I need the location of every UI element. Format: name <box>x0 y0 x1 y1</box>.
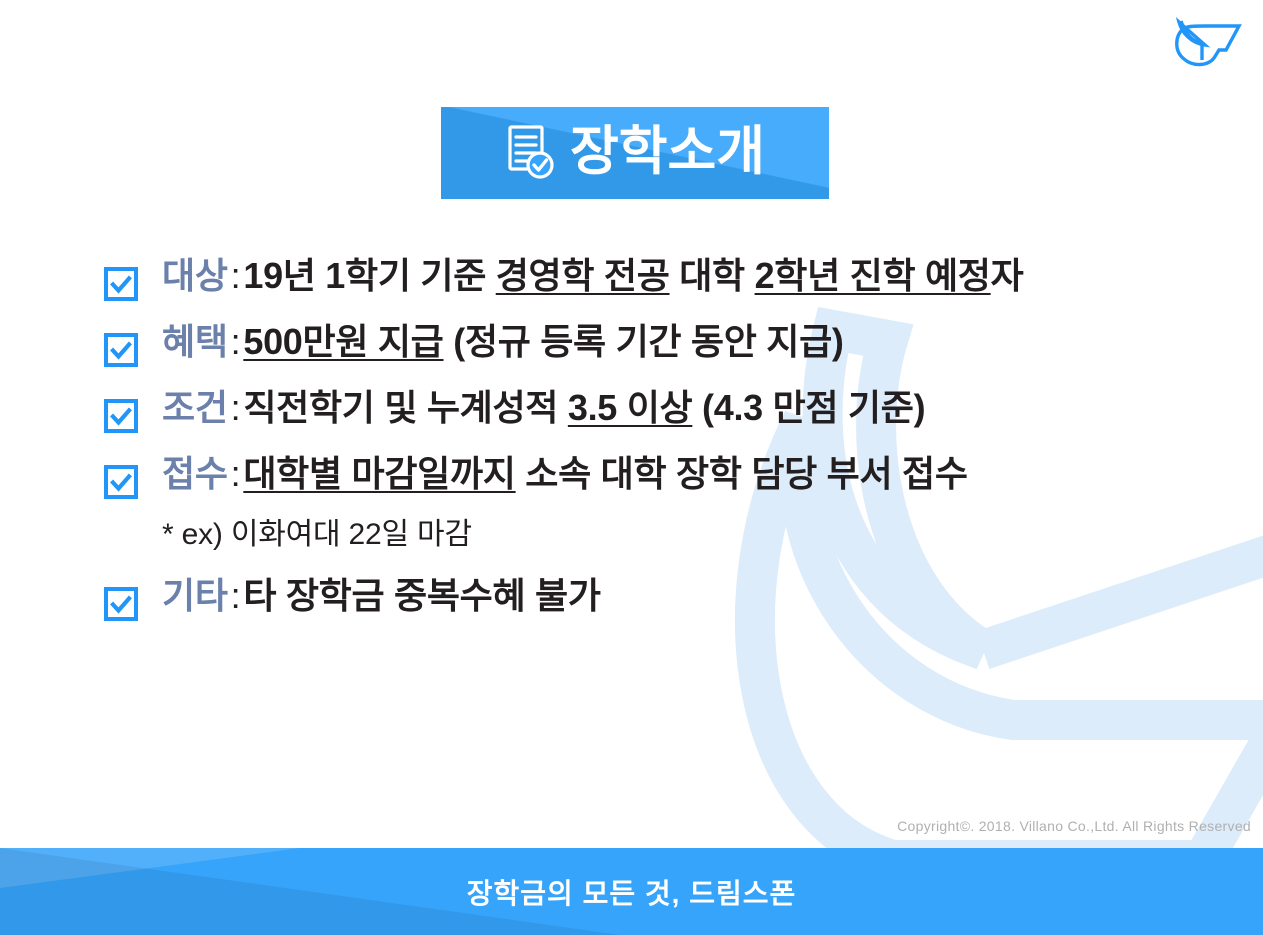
bullet-list: 대상:19년 1학기 기준 경영학 전공 대학 2학년 진학 예정자 혜택:50… <box>0 243 1263 629</box>
footer-tagline: 장학금의 모든 것, 드림스폰 <box>467 872 796 912</box>
bullet-seg: 자 <box>991 255 1024 296</box>
bullet-label: 대상 <box>162 255 228 296</box>
bullet-row-application: 접수:대학별 마감일까지 소속 대학 장학 담당 부서 접수 <box>0 441 1263 507</box>
bullet-text-condition: 조건:직전학기 및 누계성적 3.5 이상 (4.3 만점 기준) <box>162 375 925 441</box>
bullet-seg: 소속 대학 장학 담당 부서 접수 <box>516 453 968 494</box>
bullet-colon: : <box>228 321 244 362</box>
bullet-seg: 대학 <box>670 255 755 296</box>
bullet-row-condition: 조건:직전학기 및 누계성적 3.5 이상 (4.3 만점 기준) <box>0 375 1263 441</box>
bullet-label: 조건 <box>162 387 228 428</box>
bullet-label: 접수 <box>162 453 228 494</box>
bullet-text-benefit: 혜택:500만원 지급 (정규 등록 기간 동안 지급) <box>162 309 844 375</box>
bullet-text-other: 기타:타 장학금 중복수혜 불가 <box>162 563 601 629</box>
bullet-label: 혜택 <box>162 321 228 362</box>
checkbox-checked-icon <box>104 465 138 499</box>
bullet-colon: : <box>228 387 244 428</box>
bullet-colon: : <box>228 255 244 296</box>
bullet-seg-underlined: 대학별 마감일까지 <box>243 453 515 494</box>
bullet-row-target: 대상:19년 1학기 기준 경영학 전공 대학 2학년 진학 예정자 <box>0 243 1263 309</box>
bullet-note-application: * ex) 이화여대 22일 마감 <box>0 507 1263 563</box>
bullet-seg: (정규 등록 기간 동안 지급) <box>444 321 844 362</box>
bullet-seg-underlined: 500만원 지급 <box>243 321 443 362</box>
villano-bird-logo-icon <box>1171 12 1249 74</box>
bullet-seg-underlined: 3.5 이상 <box>568 387 693 428</box>
bullet-seg: 타 장학금 중복수혜 불가 <box>243 575 600 616</box>
bullet-text-application: 접수:대학별 마감일까지 소속 대학 장학 담당 부서 접수 <box>162 441 968 507</box>
checkbox-checked-icon <box>104 333 138 367</box>
slide-canvas: 장학소개 대상:19년 1학기 기준 경영학 전공 대학 2학년 진학 예정자 … <box>0 0 1263 935</box>
bullet-seg-underlined: 경영학 전공 <box>496 255 670 296</box>
copyright-text: Copyright©. 2018. Villano Co.,Ltd. All R… <box>897 818 1251 834</box>
title-banner: 장학소개 <box>441 107 829 199</box>
bullet-text-target: 대상:19년 1학기 기준 경영학 전공 대학 2학년 진학 예정자 <box>162 243 1023 309</box>
footer-banner: 장학금의 모든 것, 드림스폰 <box>0 848 1263 935</box>
checkbox-checked-icon <box>104 587 138 621</box>
bullet-row-benefit: 혜택:500만원 지급 (정규 등록 기간 동안 지급) <box>0 309 1263 375</box>
bullet-seg: 직전학기 및 누계성적 <box>243 387 568 428</box>
page-title: 장학소개 <box>570 125 765 178</box>
checkbox-checked-icon <box>104 399 138 433</box>
bullet-label: 기타 <box>162 575 228 616</box>
bullet-seg: 19년 1학기 기준 <box>243 255 495 296</box>
bullet-seg: (4.3 만점 기준) <box>692 387 925 428</box>
bullet-row-other: 기타:타 장학금 중복수혜 불가 <box>0 563 1263 629</box>
bullet-seg-underlined: 2학년 진학 예정 <box>755 255 991 296</box>
bullet-colon: : <box>228 453 244 494</box>
document-check-icon <box>505 124 557 180</box>
bullet-colon: : <box>228 575 244 616</box>
checkbox-checked-icon <box>104 267 138 301</box>
